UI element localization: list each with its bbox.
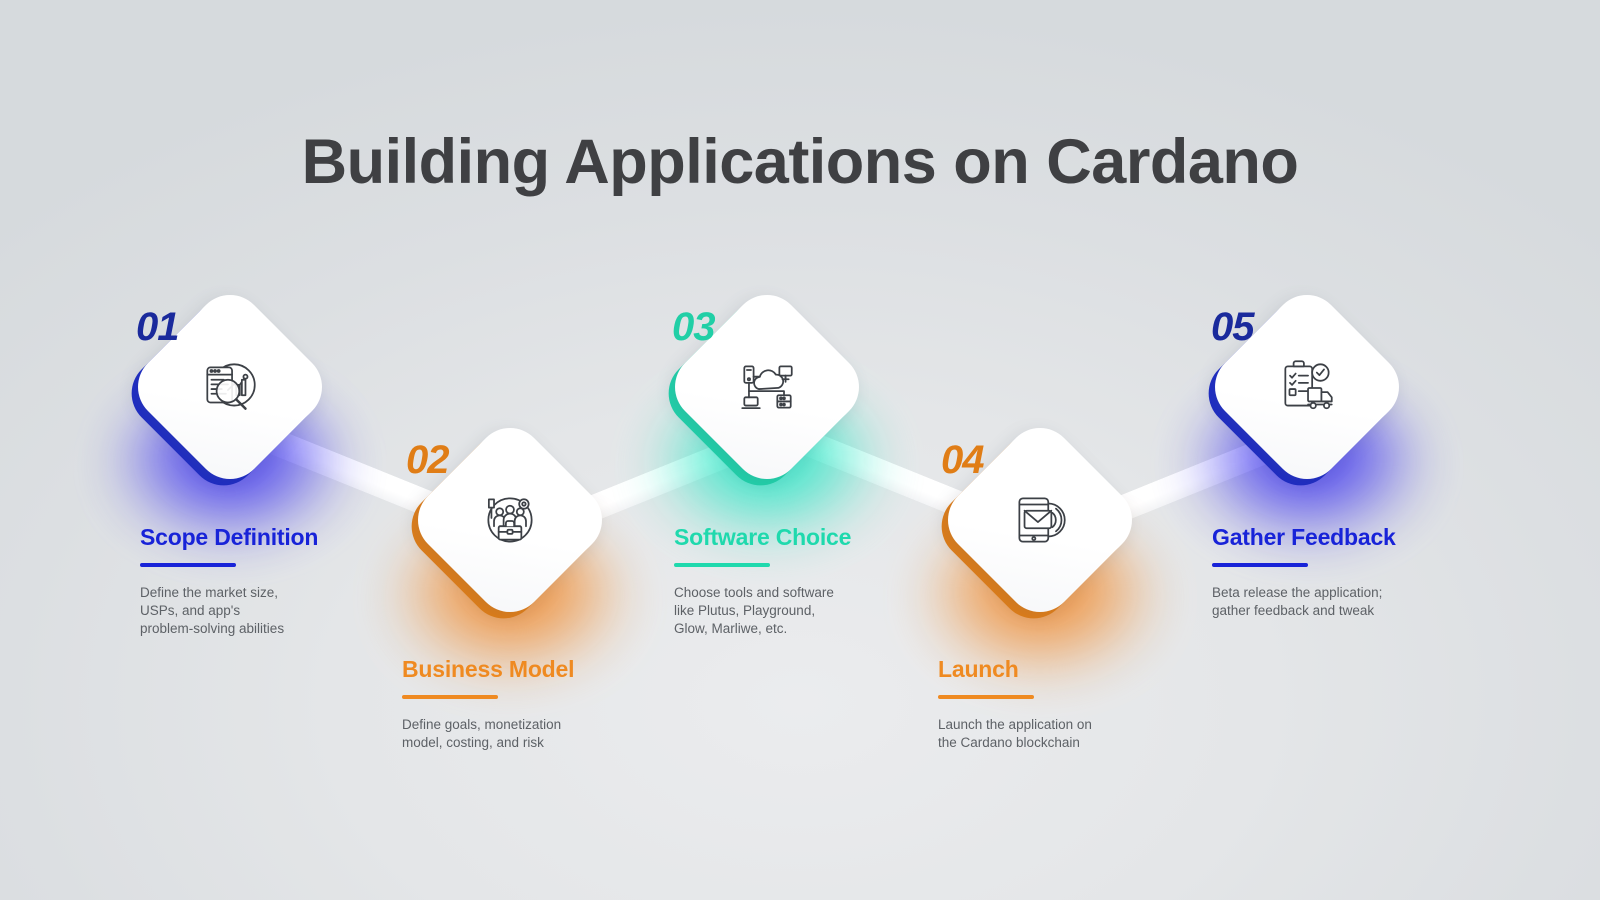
market-research-icon [197, 354, 263, 420]
step-heading-04: Launch [938, 656, 1188, 683]
page-title: Building Applications on Cardano [0, 126, 1600, 198]
step-rule-04 [938, 695, 1034, 699]
mobile-broadcast-icon [1007, 487, 1073, 553]
step-description-02: Define goals, monetization model, costin… [402, 716, 652, 752]
step-text-03: Software Choice Choose tools and softwar… [674, 524, 924, 638]
checklist-delivery-icon [1274, 354, 1340, 420]
step-rule-02 [402, 695, 498, 699]
step-text-02: Business Model Define goals, monetizatio… [402, 656, 652, 752]
step-text-01: Scope Definition Define the market size,… [140, 524, 390, 638]
step-number-01: 01 [136, 305, 179, 350]
business-team-icon [477, 487, 543, 553]
step-description-04: Launch the application on the Cardano bl… [938, 716, 1188, 752]
step-description-05: Beta release the application; gather fee… [1212, 584, 1462, 620]
step-node-05[interactable] [1232, 312, 1382, 462]
step-node-02[interactable] [435, 445, 585, 595]
step-description-01: Define the market size, USPs, and app's … [140, 584, 390, 638]
step-number-04: 04 [941, 438, 984, 483]
step-node-04[interactable] [965, 445, 1115, 595]
cloud-network-icon [734, 354, 800, 420]
step-rule-05 [1212, 563, 1308, 567]
step-rule-01 [140, 563, 236, 567]
step-heading-05: Gather Feedback [1212, 524, 1462, 551]
infographic-canvas: Building Applications on Cardano [0, 0, 1600, 900]
step-heading-02: Business Model [402, 656, 652, 683]
step-number-05: 05 [1211, 305, 1254, 350]
step-rule-03 [674, 563, 770, 567]
step-number-02: 02 [406, 438, 449, 483]
step-heading-01: Scope Definition [140, 524, 390, 551]
step-text-04: Launch Launch the application on the Car… [938, 656, 1188, 752]
step-text-05: Gather Feedback Beta release the applica… [1212, 524, 1462, 620]
step-heading-03: Software Choice [674, 524, 924, 551]
step-description-03: Choose tools and software like Plutus, P… [674, 584, 924, 638]
step-number-03: 03 [672, 305, 715, 350]
